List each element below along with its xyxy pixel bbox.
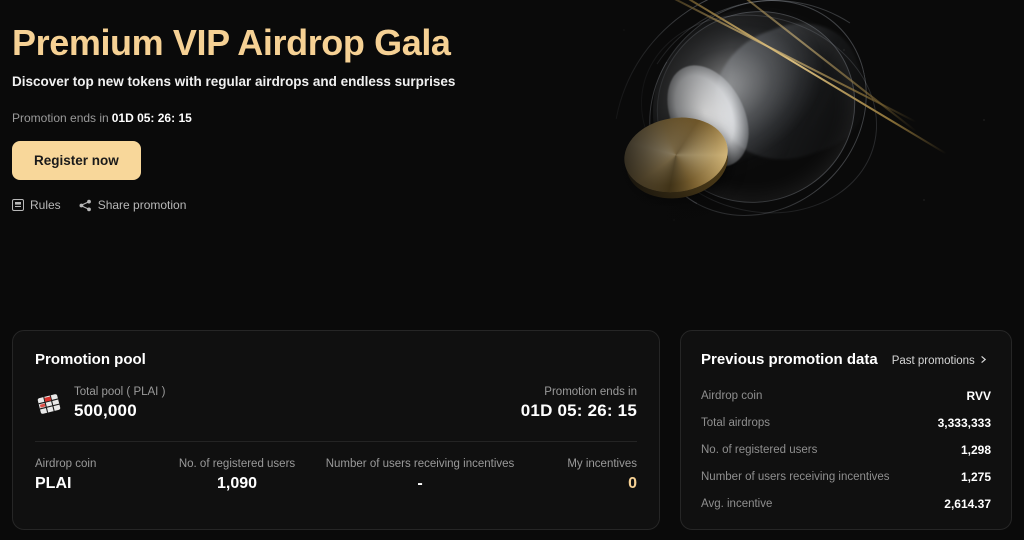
row-value: RVV: [967, 389, 991, 403]
stat-registered-users-value: 1,090: [153, 475, 321, 493]
cards-row: Promotion pool: [12, 330, 1012, 530]
previous-promotion-card: Previous promotion data Past promotions …: [680, 330, 1012, 530]
previous-promotion-rows: Airdrop coin RVV Total airdrops 3,333,33…: [701, 382, 991, 517]
rules-link[interactable]: Rules: [12, 198, 61, 212]
row-label: Avg. incentive: [701, 498, 772, 510]
page-title: Premium VIP Airdrop Gala: [12, 22, 612, 64]
hero-countdown-label: Promotion ends in: [12, 111, 109, 125]
total-pool-block: Total pool ( PLAI ) 500,000: [35, 386, 165, 421]
page-subtitle: Discover top new tokens with regular air…: [12, 74, 612, 89]
previous-promotion-title: Previous promotion data: [701, 351, 878, 368]
rules-link-label: Rules: [30, 198, 61, 212]
plai-token-icon: [35, 390, 63, 418]
promotion-pool-summary: Total pool ( PLAI ) 500,000 Promotion en…: [35, 386, 637, 421]
total-pool-text: Total pool ( PLAI ) 500,000: [74, 386, 165, 421]
total-pool-value: 500,000: [74, 401, 165, 421]
past-promotions-link[interactable]: Past promotions: [892, 355, 988, 367]
stat-registered-users: No. of registered users 1,090: [153, 458, 321, 493]
stat-users-receiving-incentives: Number of users receiving incentives -: [321, 458, 519, 493]
stat-airdrop-coin-label: Airdrop coin: [35, 458, 153, 470]
pool-countdown-value: 01D 05: 26: 15: [521, 401, 637, 421]
row-label: Total airdrops: [701, 417, 770, 429]
row-label: No. of registered users: [701, 444, 817, 456]
row-value: 1,275: [961, 470, 991, 484]
stat-airdrop-coin: Airdrop coin PLAI: [35, 458, 153, 493]
promotion-pool-title: Promotion pool: [35, 351, 637, 368]
pool-countdown-label: Promotion ends in: [521, 386, 637, 398]
hero-banner: Premium VIP Airdrop Gala Discover top ne…: [0, 0, 1024, 310]
rules-document-icon: [12, 199, 24, 211]
share-icon: [79, 199, 92, 212]
row-label: Airdrop coin: [701, 390, 762, 402]
hero-links: Rules Share promotion: [12, 198, 612, 212]
share-promotion-label: Share promotion: [98, 198, 187, 212]
table-row: Avg. incentive 2,614.37: [701, 490, 991, 517]
pool-countdown-block: Promotion ends in 01D 05: 26: 15: [521, 386, 637, 421]
hero-illustration: [594, 0, 1024, 260]
table-row: Number of users receiving incentives 1,2…: [701, 463, 991, 490]
stat-my-incentives-label: My incentives: [519, 458, 637, 470]
stat-my-incentives: My incentives 0: [519, 458, 637, 493]
stat-users-receiving-incentives-label: Number of users receiving incentives: [321, 458, 519, 470]
table-row: Total airdrops 3,333,333: [701, 409, 991, 436]
hero-countdown: Promotion ends in01D 05: 26: 15: [12, 111, 612, 125]
stat-users-receiving-incentives-value: -: [321, 475, 519, 493]
share-promotion-link[interactable]: Share promotion: [79, 198, 187, 212]
row-label: Number of users receiving incentives: [701, 471, 890, 483]
promotion-pool-card: Promotion pool: [12, 330, 660, 530]
hero-copy: Premium VIP Airdrop Gala Discover top ne…: [12, 22, 612, 212]
hero-countdown-value: 01D 05: 26: 15: [112, 111, 192, 125]
previous-promotion-header: Previous promotion data Past promotions: [701, 351, 991, 368]
row-value: 2,614.37: [944, 497, 991, 511]
total-pool-label: Total pool ( PLAI ): [74, 386, 165, 398]
pool-stats-row: Airdrop coin PLAI No. of registered user…: [35, 458, 637, 493]
row-value: 1,298: [961, 443, 991, 457]
chevron-right-icon: [979, 355, 988, 367]
past-promotions-label: Past promotions: [892, 355, 975, 367]
table-row: No. of registered users 1,298: [701, 436, 991, 463]
stat-my-incentives-value: 0: [519, 475, 637, 493]
pool-divider: [35, 441, 637, 442]
table-row: Airdrop coin RVV: [701, 382, 991, 409]
row-value: 3,333,333: [938, 416, 991, 430]
stat-registered-users-label: No. of registered users: [153, 458, 321, 470]
register-now-button[interactable]: Register now: [12, 141, 141, 180]
stat-airdrop-coin-value: PLAI: [35, 475, 153, 493]
